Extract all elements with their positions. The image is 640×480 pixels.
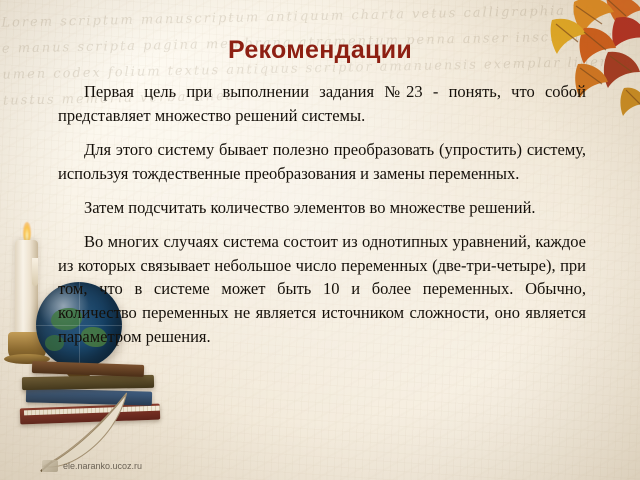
footer: ele.naranko.ucoz.ru: [42, 460, 142, 472]
site-mark-icon: [42, 460, 58, 472]
paragraph-3: Затем подсчитать количество элементов во…: [58, 196, 586, 220]
slide-body: Первая цель при выполнении задания №23 -…: [58, 80, 586, 349]
slide: Lorem scriptum manuscriptum antiquum cha…: [0, 0, 640, 480]
paragraph-4: Во многих случаях система состоит из одн…: [58, 230, 586, 350]
paragraph-1: Первая цель при выполнении задания №23 -…: [58, 80, 586, 128]
page-title: Рекомендации: [0, 36, 640, 65]
paragraph-2: Для этого систему бывает полезно преобра…: [58, 138, 586, 186]
footer-text: ele.naranko.ucoz.ru: [63, 461, 142, 471]
